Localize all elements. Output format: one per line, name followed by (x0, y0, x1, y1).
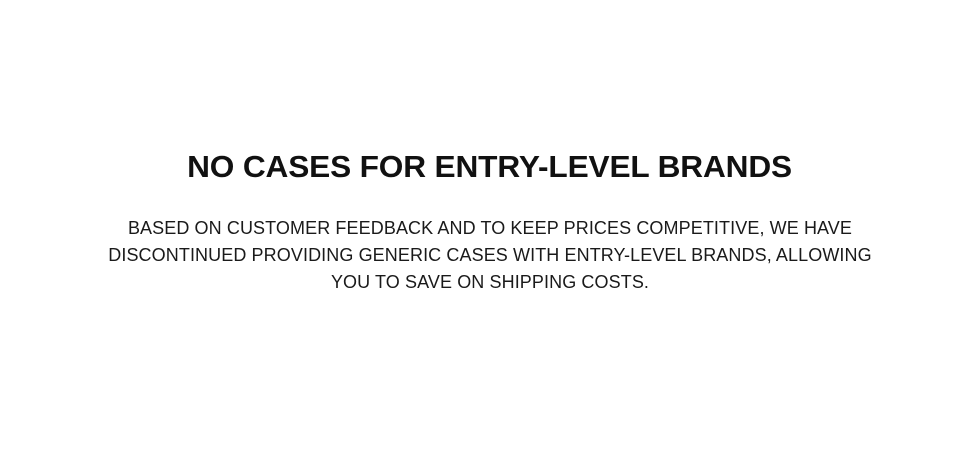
banner-body-text: BASED ON CUSTOMER FEEDBACK AND TO KEEP P… (108, 215, 871, 296)
notice-banner-content: NO CASES FOR ENTRY-LEVEL BRANDS BASED ON… (40, 150, 940, 296)
banner-body-line-3: YOU TO SAVE ON SHIPPING COSTS. (108, 269, 871, 296)
notice-banner: NO CASES FOR ENTRY-LEVEL BRANDS BASED ON… (0, 0, 980, 450)
banner-heading: NO CASES FOR ENTRY-LEVEL BRANDS (188, 150, 793, 184)
banner-body-line-1: BASED ON CUSTOMER FEEDBACK AND TO KEEP P… (108, 215, 871, 242)
banner-body-line-2: DISCONTINUED PROVIDING GENERIC CASES WIT… (108, 242, 871, 269)
